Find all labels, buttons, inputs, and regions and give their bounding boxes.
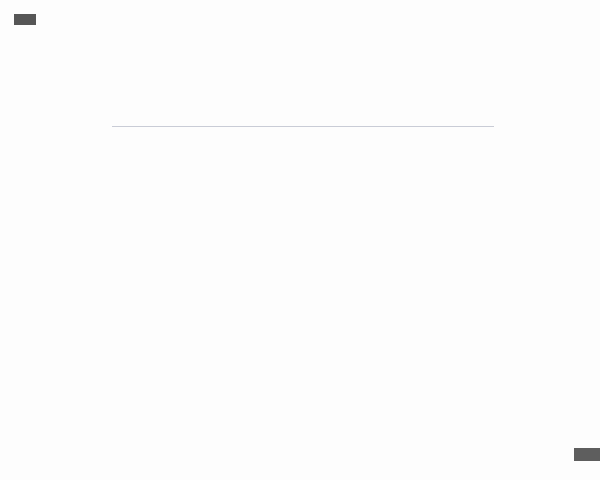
process-flow (0, 141, 600, 175)
site-watermark (574, 448, 600, 461)
header (0, 84, 600, 90)
brand-logo (517, 86, 581, 88)
header-divider (112, 126, 494, 127)
slide-canvas (0, 0, 600, 480)
telegram-watermark (14, 14, 36, 25)
